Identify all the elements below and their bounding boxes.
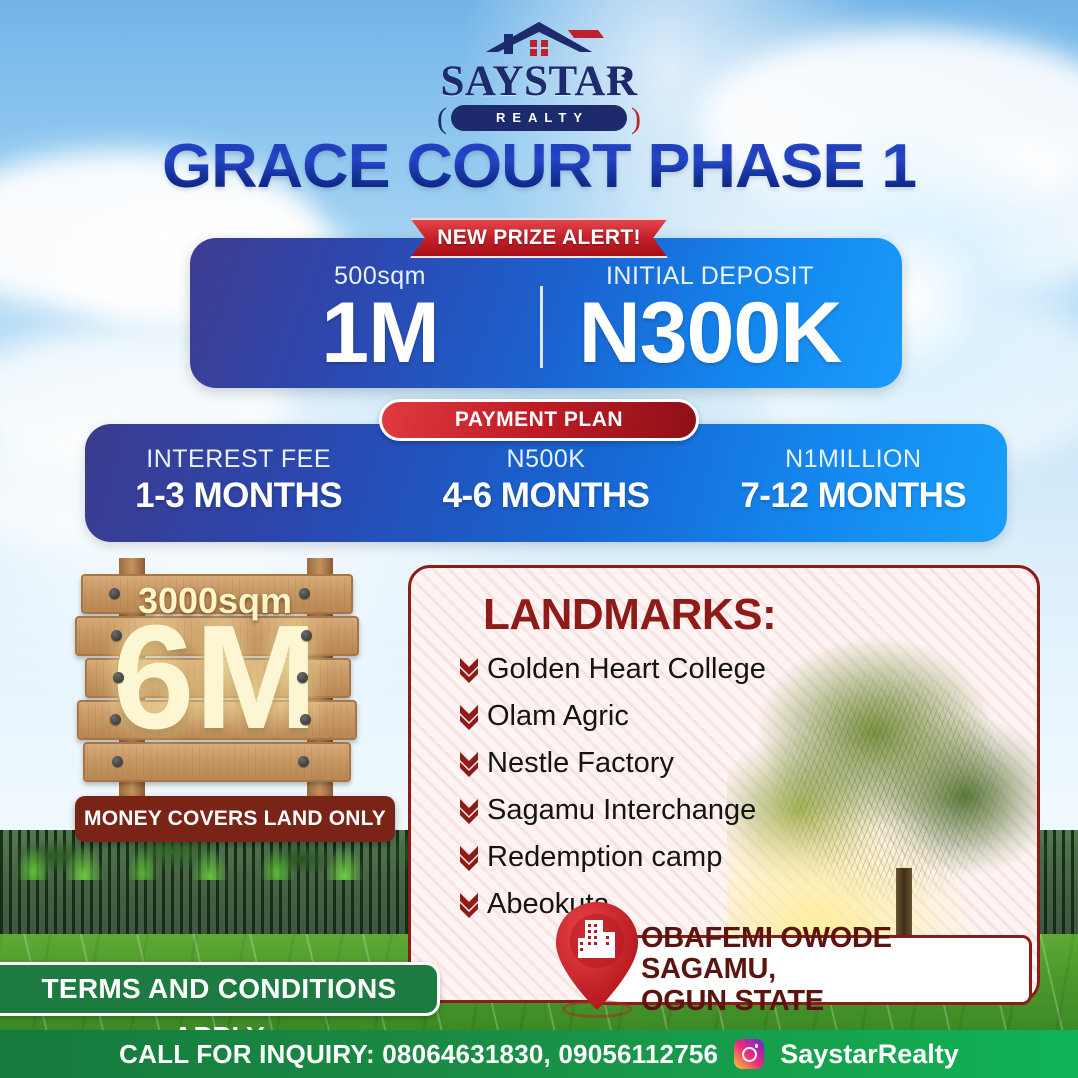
- landmark-label: Golden Heart College: [487, 653, 766, 686]
- price-banner: 500sqm 1M INITIAL DEPOSIT N300K: [190, 238, 902, 388]
- screw-icon: [112, 756, 123, 767]
- location-line-2: OGUN STATE: [641, 986, 1029, 1017]
- screw-icon: [301, 630, 312, 641]
- chevron-down-icon: [451, 843, 487, 873]
- terms-badge: TERMS AND CONDITIONS APPLY: [0, 962, 440, 1016]
- brand-logo: SAYSTAR ( REALTY ) ✦✦: [409, 18, 669, 131]
- plan-column: INTEREST FEE 1-3 MONTHS: [85, 445, 392, 516]
- screw-icon: [300, 714, 311, 725]
- call-for-inquiry-text: CALL FOR INQUIRY: 08064631830, 090561127…: [119, 1039, 718, 1070]
- chevron-down-icon: [451, 702, 487, 732]
- brand-sub: REALTY: [451, 105, 627, 131]
- plan-sub-label: INTEREST FEE: [85, 445, 392, 474]
- plan-column: N500K 4-6 MONTHS: [392, 445, 699, 516]
- initial-deposit-value: N300K: [550, 291, 870, 375]
- brand-sub-wrap: ( REALTY ) ✦✦: [439, 105, 639, 131]
- screw-icon: [111, 630, 122, 641]
- plan-sub-label: N500K: [392, 445, 699, 474]
- plan-column: N1MILLION 7-12 MONTHS: [700, 445, 1007, 516]
- list-item: Olam Agric: [451, 693, 911, 740]
- instagram-handle[interactable]: SaystarRealty: [780, 1039, 959, 1070]
- sign-note-badge: MONEY COVERS LAND ONLY: [75, 796, 395, 842]
- plan-main-label: 7-12 MONTHS: [700, 476, 1007, 516]
- location-line-1: OBAFEMI OWODE SAGAMU,: [641, 923, 1029, 986]
- screw-icon: [298, 756, 309, 767]
- chevron-down-icon: [451, 655, 487, 685]
- list-item: Abeokuta: [451, 881, 911, 928]
- location-card: OBAFEMI OWODE SAGAMU, OGUN STATE: [596, 935, 1032, 1005]
- list-item: Sagamu Interchange: [451, 787, 911, 834]
- page-title: GRACE COURT PHASE 1: [0, 131, 1078, 202]
- landmark-label: Olam Agric: [487, 700, 629, 733]
- sign-price-value: 6M: [45, 604, 385, 752]
- chevron-down-icon: [451, 796, 487, 826]
- location-text: OBAFEMI OWODE SAGAMU, OGUN STATE: [641, 923, 1029, 1017]
- sparkle-icon: ✦✦: [605, 67, 634, 87]
- chevron-down-icon: [451, 890, 487, 920]
- list-item: Golden Heart College: [451, 646, 911, 693]
- price-right-block: INITIAL DEPOSIT N300K: [550, 262, 870, 375]
- plan-main-label: 4-6 MONTHS: [392, 476, 699, 516]
- screw-icon: [109, 588, 120, 599]
- screw-icon: [110, 714, 121, 725]
- wooden-sign: 3000sqm 6M MONEY COVERS LAND ONLY: [45, 558, 385, 798]
- map-pin-icon: [552, 898, 642, 1016]
- new-prize-alert-ribbon: NEW PRIZE ALERT!: [410, 218, 668, 258]
- plan-sub-label: N1MILLION: [700, 445, 1007, 474]
- landmark-label: Redemption camp: [487, 841, 722, 874]
- footer-bar: CALL FOR INQUIRY: 08064631830, 090561127…: [0, 1030, 1078, 1078]
- price-left-block: 500sqm 1M: [235, 262, 525, 375]
- landmarks-title: LANDMARKS:: [483, 590, 776, 640]
- instagram-ring: [742, 1047, 757, 1062]
- screw-icon: [113, 672, 124, 683]
- screw-icon: [297, 672, 308, 683]
- screw-icon: [299, 588, 310, 599]
- payment-plan-pill: PAYMENT PLAN: [379, 399, 699, 441]
- ribbon-label: NEW PRIZE ALERT!: [410, 218, 668, 258]
- plan-main-label: 1-3 MONTHS: [85, 476, 392, 516]
- plot-price-value: 1M: [235, 291, 525, 375]
- landmark-label: Nestle Factory: [487, 747, 674, 780]
- list-item: Redemption camp: [451, 834, 911, 881]
- chevron-down-icon: [451, 749, 487, 779]
- price-divider: [540, 286, 543, 368]
- landmark-label: Sagamu Interchange: [487, 794, 756, 827]
- poster-root: SAYSTAR ( REALTY ) ✦✦ GRACE COURT PHASE …: [0, 0, 1078, 1078]
- pin-shadow: [562, 1000, 632, 1018]
- instagram-dot: [755, 1044, 759, 1048]
- instagram-icon[interactable]: [734, 1039, 764, 1069]
- payment-plan-columns: INTEREST FEE 1-3 MONTHS N500K 4-6 MONTHS…: [85, 445, 1007, 516]
- landmarks-list: Golden Heart College Olam Agric Nestle F…: [451, 646, 911, 928]
- list-item: Nestle Factory: [451, 740, 911, 787]
